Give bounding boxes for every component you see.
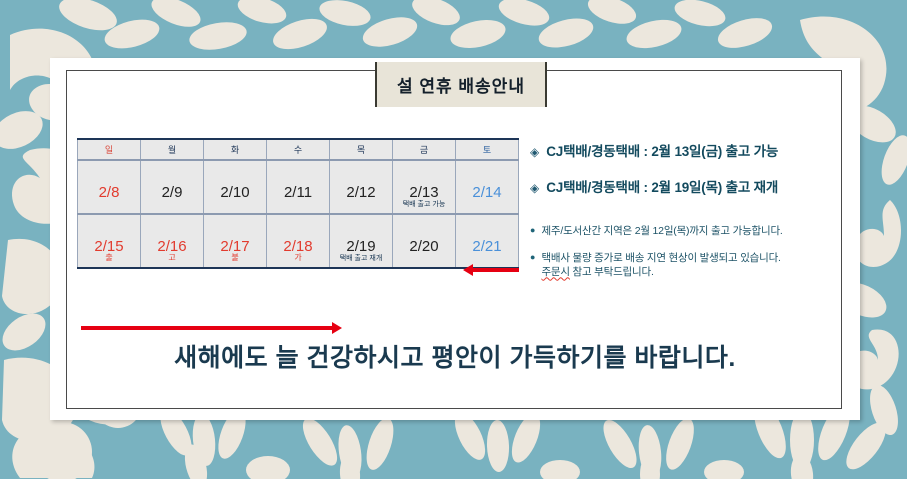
notice-text-line2: 참고 부탁드립니다.	[570, 266, 654, 278]
day-number: 2/16	[141, 239, 203, 254]
misspelled-word: 주문시	[541, 266, 569, 278]
calendar-week-row-2: 2/15 출 2/16 고 2/17 불 2/18 가	[78, 214, 519, 268]
notice-column: ◈ CJ택배/경동택배 : 2월 13일(금) 출고 가능 ◈ CJ택배/경동택…	[530, 140, 845, 293]
weekday-header-tue: 화	[204, 139, 267, 160]
calendar-day-cell: 2/11	[267, 160, 330, 214]
notice-item: ◈ CJ택배/경동택배 : 2월 19일(목) 출고 재개	[530, 176, 845, 196]
day-number: 2/20	[393, 239, 455, 254]
day-number: 2/8	[78, 185, 140, 200]
day-note: 출	[78, 254, 140, 262]
round-bullet-icon: ●	[530, 224, 535, 238]
calendar-day-cell-shipping-resume: 2/19 택배 출고 재개	[330, 214, 393, 268]
day-number: 2/9	[141, 185, 203, 200]
page-title: 설 연휴 배송안내	[397, 72, 525, 97]
calendar-day-cell-holiday: 2/18 가	[267, 214, 330, 268]
day-note: 불	[204, 254, 266, 262]
calendar-week-row-1: 2/8 2/9 2/10 2/11 2/12 2/13	[78, 160, 519, 214]
calendar-day-cell: 2/10	[204, 160, 267, 214]
day-number: 2/18	[267, 239, 329, 254]
announcement-card: 설 연휴 배송안내 일 월 화 수 목 금 토 2/8	[50, 58, 860, 420]
round-bullet-icon: ●	[530, 251, 535, 265]
calendar-day-cell-shipping-available: 2/13 택배 출고 가능	[393, 160, 456, 214]
greeting-message: 새해에도 늘 건강하시고 평안이 가득하기를 바랍니다.	[50, 338, 860, 374]
day-note: 고	[141, 254, 203, 262]
day-number: 2/19	[330, 239, 392, 254]
calendar-day-cell: 2/12	[330, 160, 393, 214]
weekday-header-mon: 월	[141, 139, 204, 160]
notice-text: CJ택배/경동택배 : 2월 19일(목) 출고 재개	[546, 176, 778, 196]
calendar-table: 일 월 화 수 목 금 토 2/8 2/9	[77, 138, 519, 269]
calendar-day-cell: 2/8	[78, 160, 141, 214]
diamond-bullet-icon: ◈	[530, 146, 539, 158]
day-note: 가	[267, 254, 329, 262]
day-number: 2/13	[393, 185, 455, 200]
notice-item: ● 택배사 물량 증가로 배송 지연 현상이 발생되고 있습니다.주문시 참고 …	[530, 251, 845, 279]
weekday-header-thu: 목	[330, 139, 393, 160]
holiday-span-arrow	[81, 326, 333, 330]
day-number: 2/12	[330, 185, 392, 200]
main-notice-list: ◈ CJ택배/경동택배 : 2월 13일(금) 출고 가능 ◈ CJ택배/경동택…	[530, 140, 845, 196]
notice-item: ◈ CJ택배/경동택배 : 2월 13일(금) 출고 가능	[530, 140, 845, 160]
calendar-day-cell-holiday: 2/17 불	[204, 214, 267, 268]
day-number: 2/17	[204, 239, 266, 254]
notice-text: CJ택배/경동택배 : 2월 13일(금) 출고 가능	[546, 140, 778, 160]
calendar-day-cell-holiday: 2/16 고	[141, 214, 204, 268]
notice-text: 택배사 물량 증가로 배송 지연 현상이 발생되고 있습니다.주문시 참고 부탁…	[541, 251, 780, 279]
weekday-header-sat: 토	[456, 139, 519, 160]
day-note: 택배 출고 가능	[393, 201, 455, 208]
saturday-no-shipping-arrow	[472, 268, 519, 272]
sub-notice-list: ● 제주/도서산간 지역은 2월 12일(목)까지 출고 가능합니다. ● 택배…	[530, 224, 845, 280]
calendar-day-cell: 2/9	[141, 160, 204, 214]
day-number: 2/15	[78, 239, 140, 254]
calendar-header-row: 일 월 화 수 목 금 토	[78, 139, 519, 160]
weekday-header-fri: 금	[393, 139, 456, 160]
calendar-day-cell-holiday: 2/15 출	[78, 214, 141, 268]
notice-text: 제주/도서산간 지역은 2월 12일(목)까지 출고 가능합니다.	[541, 224, 782, 238]
calendar-day-cell: 2/20	[393, 214, 456, 268]
day-number: 2/10	[204, 185, 266, 200]
notice-item: ● 제주/도서산간 지역은 2월 12일(목)까지 출고 가능합니다.	[530, 224, 845, 238]
delivery-calendar: 일 월 화 수 목 금 토 2/8 2/9	[77, 138, 519, 269]
calendar-day-cell: 2/14	[456, 160, 519, 214]
weekday-header-wed: 수	[267, 139, 330, 160]
calendar-day-cell: 2/21	[456, 214, 519, 268]
notice-text-line1: 택배사 물량 증가로 배송 지연 현상이 발생되고 있습니다.	[541, 252, 780, 264]
day-number: 2/21	[456, 239, 518, 254]
title-plaque: 설 연휴 배송안내	[375, 62, 547, 107]
weekday-header-sun: 일	[78, 139, 141, 160]
day-number: 2/11	[267, 185, 329, 200]
diamond-bullet-icon: ◈	[530, 182, 539, 194]
day-note: 택배 출고 재개	[330, 255, 392, 262]
day-number: 2/14	[456, 185, 518, 200]
